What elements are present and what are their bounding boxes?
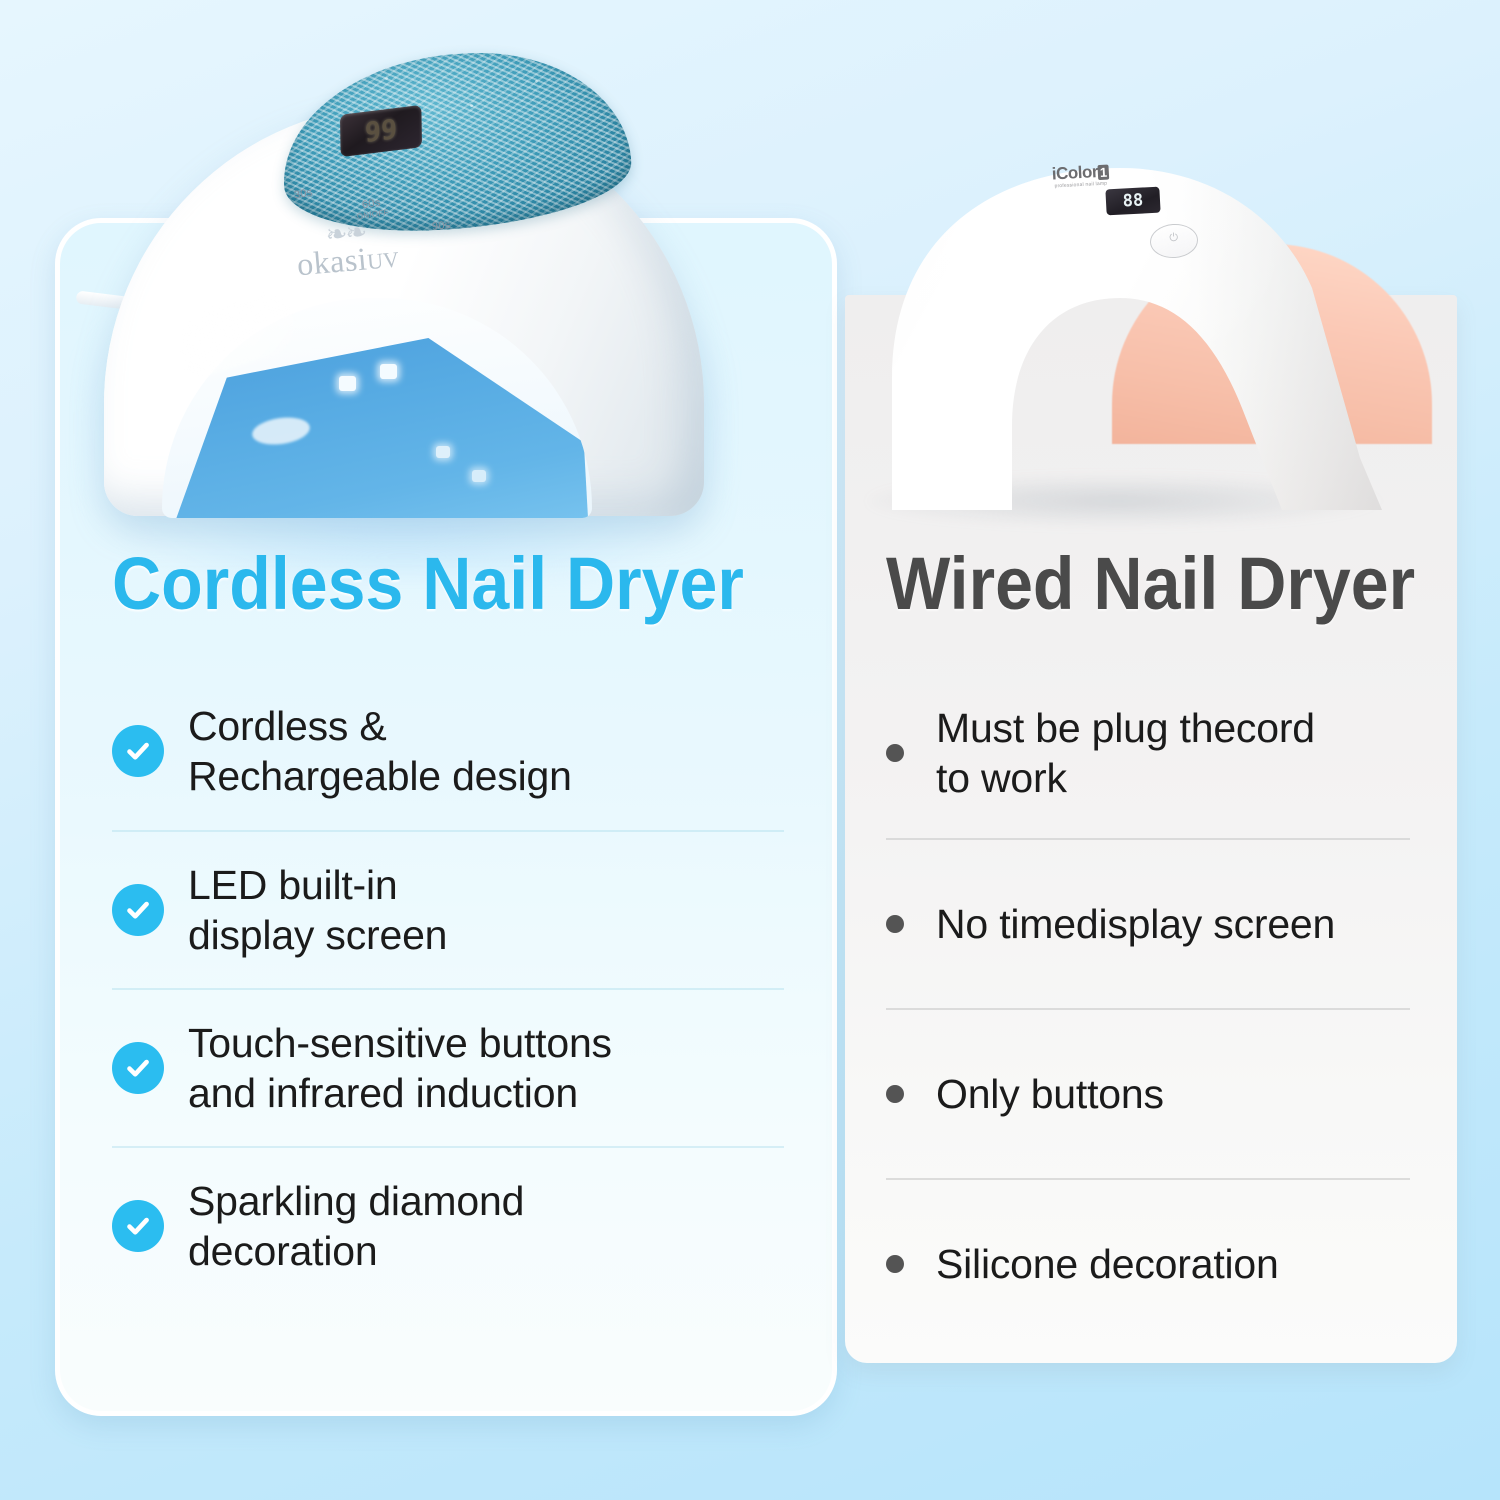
brand-name: okasi (295, 240, 368, 282)
brand-name: iColor (1051, 162, 1098, 183)
icolor-brand-logo: iColor1 professional nail lamp (1051, 163, 1109, 190)
bullet-dot-icon (886, 1085, 904, 1103)
led-chip-icon (472, 470, 486, 482)
wired-feature-list: Must be plug thecordto workNo timedispla… (886, 668, 1410, 1348)
timer-label-90s: 90s (431, 219, 451, 233)
comparison-infographic: 99 30s 60s ON/OFF 90s ❧❧ okasiUV iColor1… (0, 0, 1500, 1500)
feature-text: Cordless &Rechargeable design (188, 701, 572, 801)
cordless-heading: Cordless Nail Dryer (112, 547, 744, 621)
feature-text: Only buttons (936, 1069, 1164, 1119)
display-value: 88 (1122, 192, 1143, 210)
led-chip-icon (380, 364, 397, 379)
feature-text: Silicone decoration (936, 1239, 1279, 1289)
bullet-dot-icon (886, 1255, 904, 1273)
feature-item: Touch-sensitive buttonsand infrared indu… (112, 988, 784, 1146)
check-icon (112, 884, 164, 936)
cordless-feature-list: Cordless &Rechargeable designLED built-i… (112, 672, 784, 1304)
brand-badge: 1 (1098, 165, 1110, 181)
lamp-digital-display: 88 (1105, 187, 1160, 216)
feature-text: Touch-sensitive buttonsand infrared indu… (188, 1018, 612, 1118)
feature-text: Must be plug thecordto work (936, 703, 1315, 803)
feature-item: Cordless &Rechargeable design (112, 672, 784, 830)
wired-nail-dryer-product-image: iColor1 professional nail lamp 88 (862, 152, 1462, 532)
feature-item: Only buttons (886, 1008, 1410, 1178)
feature-text: LED built-indisplay screen (188, 860, 447, 960)
feature-item: No timedisplay screen (886, 838, 1410, 1008)
bullet-dot-icon (886, 915, 904, 933)
brand-wordmark: iColor1 (1051, 163, 1109, 183)
check-icon (112, 1042, 164, 1094)
feature-item: Sparkling diamonddecoration (112, 1146, 784, 1304)
brand-suffix: UV (366, 246, 400, 274)
feature-item: Must be plug thecordto work (886, 668, 1410, 838)
feature-text: No timedisplay screen (936, 899, 1335, 949)
feature-text: Sparkling diamonddecoration (188, 1176, 524, 1276)
bullet-dot-icon (886, 744, 904, 762)
feature-item: Silicone decoration (886, 1178, 1410, 1348)
check-icon (112, 725, 164, 777)
okasiuv-brand-logo: ❧❧ okasiUV (294, 220, 400, 280)
feature-item: LED built-indisplay screen (112, 830, 784, 988)
display-value: 99 (365, 115, 398, 146)
check-icon (112, 1200, 164, 1252)
cordless-nail-dryer-product-image: 99 30s 60s ON/OFF 90s ❧❧ okasiUV (84, 46, 724, 546)
wired-heading: Wired Nail Dryer (886, 547, 1415, 621)
led-chip-icon (436, 446, 450, 458)
led-chip-icon (339, 376, 356, 391)
